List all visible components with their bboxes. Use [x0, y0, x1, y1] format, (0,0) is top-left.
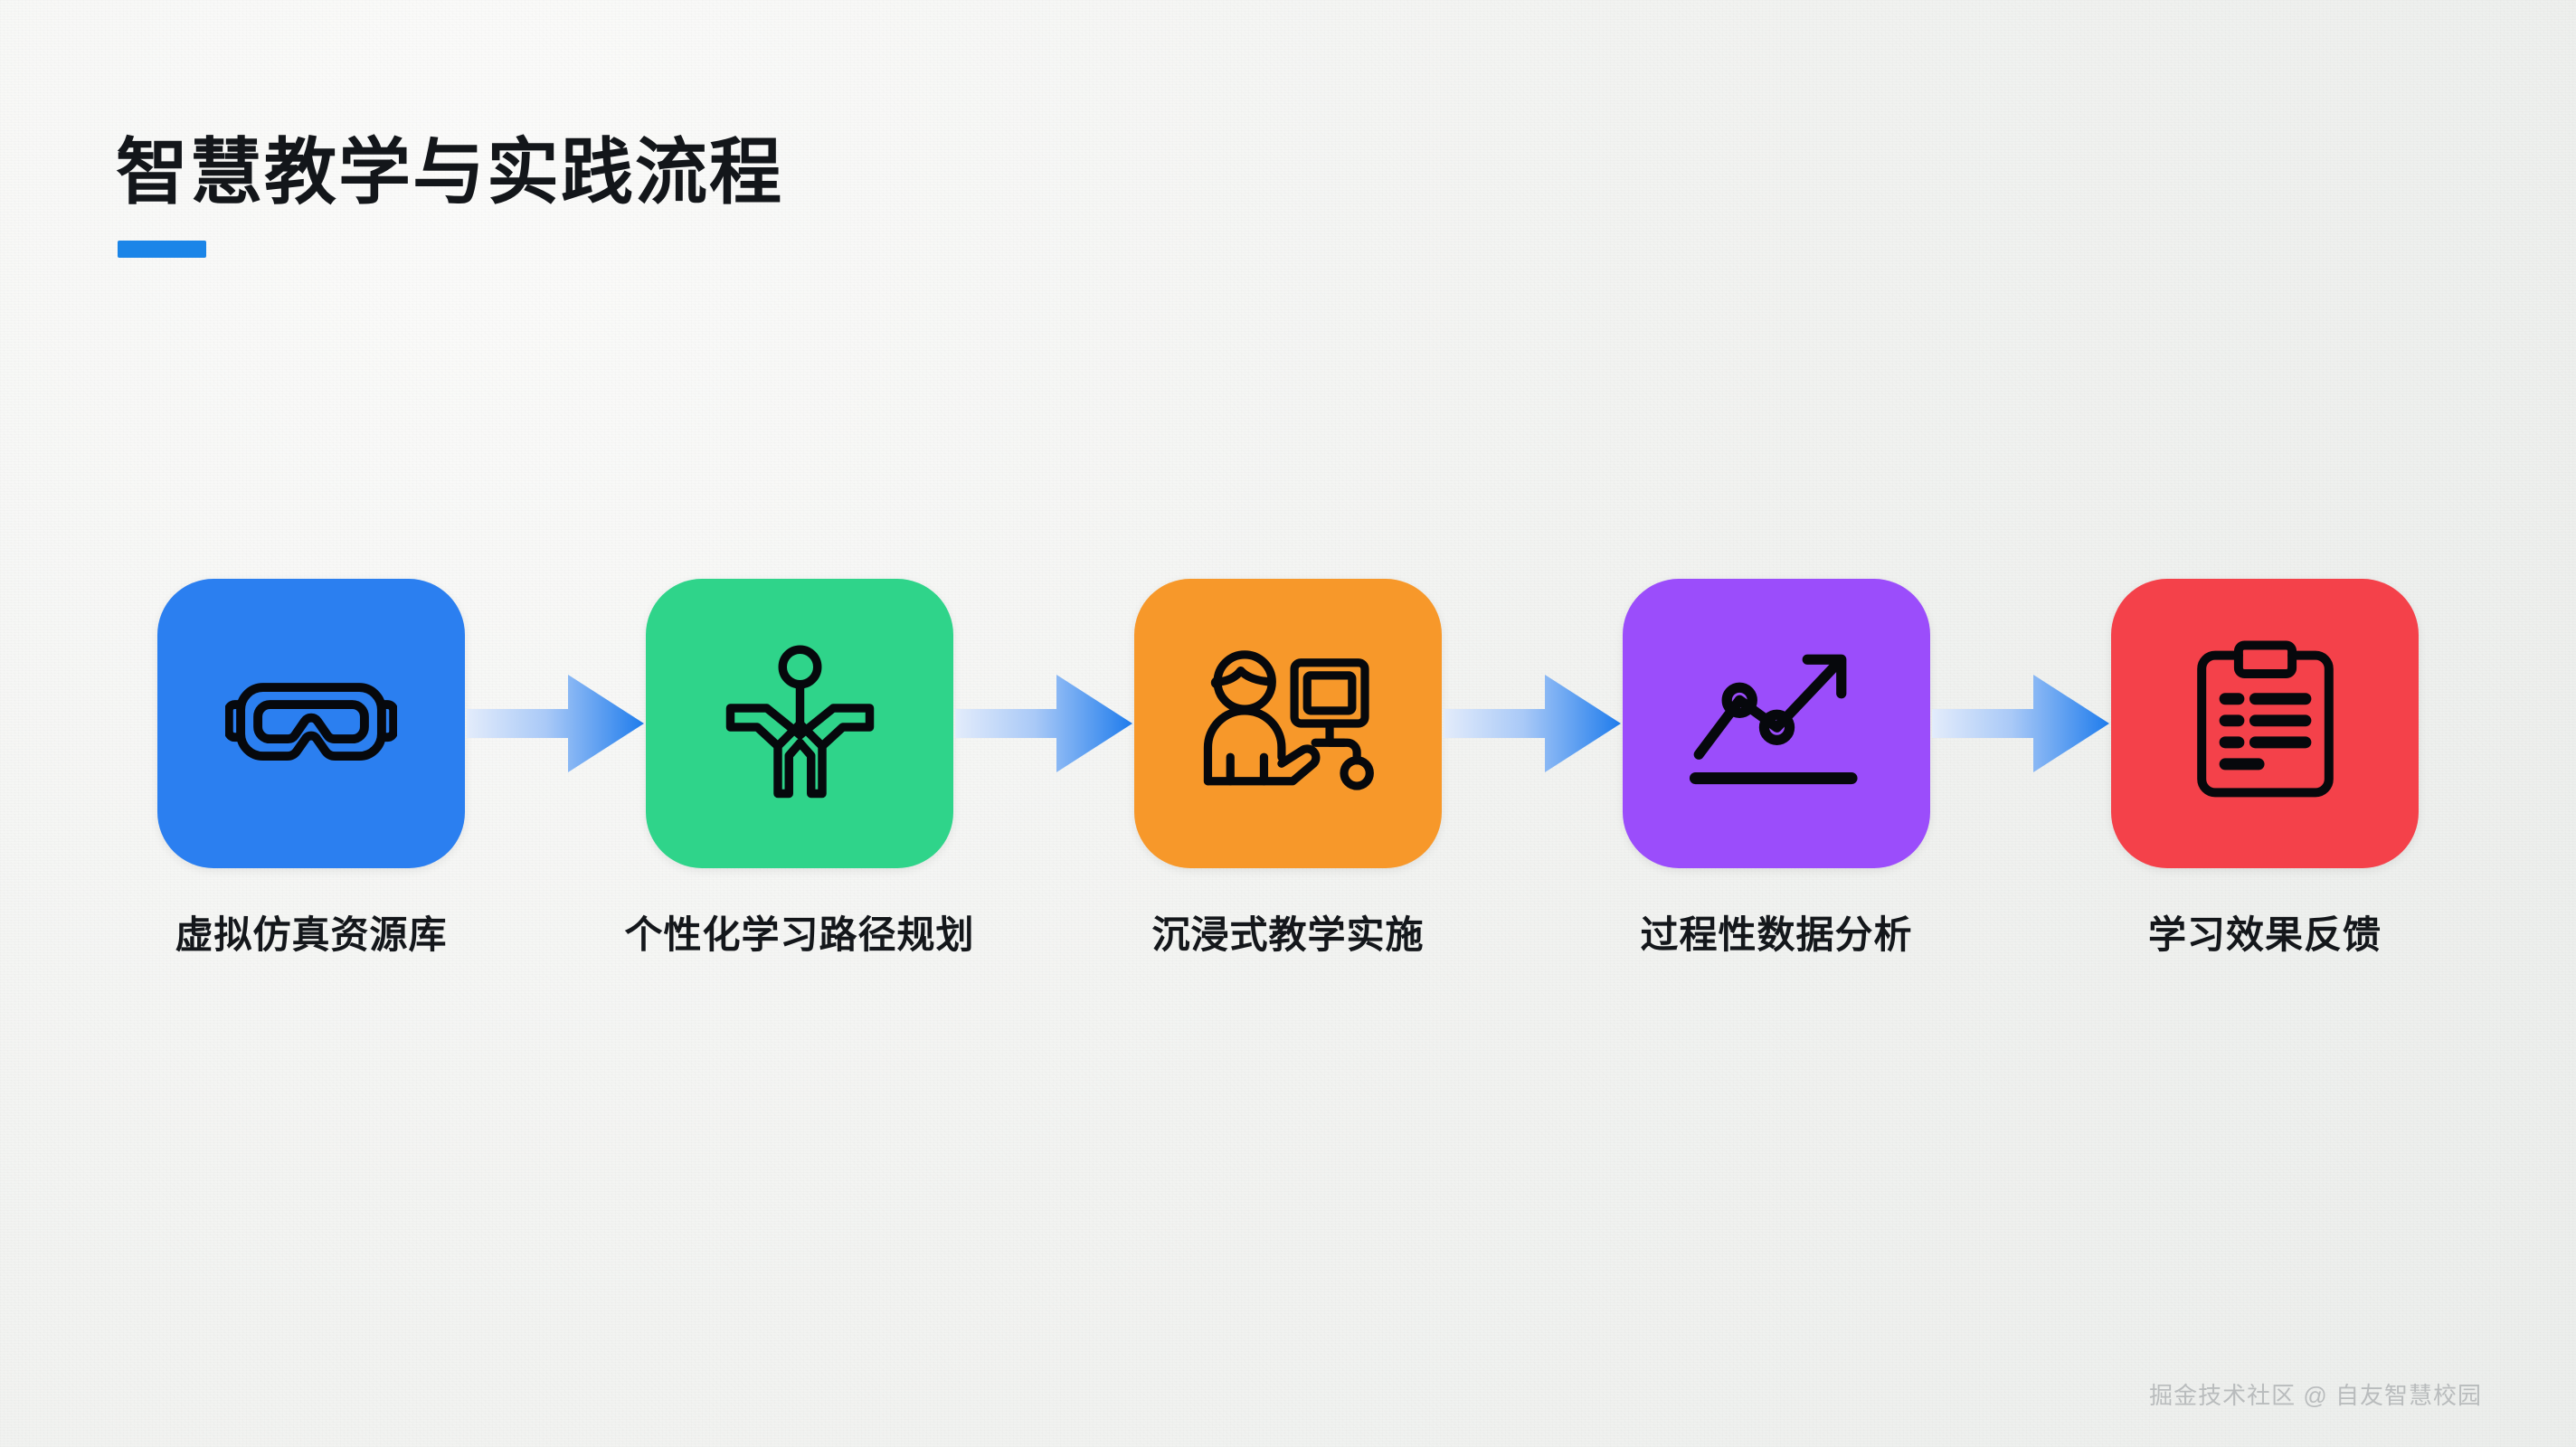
watermark: 掘金技术社区 @ 自友智慧校园: [2149, 1377, 2482, 1411]
flow-step-1-card[interactable]: [157, 579, 465, 868]
flow-arrow-icon: [1932, 673, 2109, 774]
teacher-presenting-icon: [1202, 647, 1374, 800]
flow-step-3-card[interactable]: [1134, 579, 1442, 868]
vr-goggles-icon: [225, 656, 397, 791]
branching-path-icon: [725, 645, 875, 803]
flow-step-5-card[interactable]: [2111, 579, 2419, 868]
flow-arrow-icon: [467, 673, 644, 774]
clipboard-checklist-icon: [2191, 640, 2340, 808]
flow-arrow-1: [465, 579, 646, 868]
flow-step-3[interactable]: 沉浸式教学实施: [1134, 579, 1442, 960]
process-flow: 虚拟仿真资源库: [0, 579, 2576, 995]
slide-canvas: 智慧教学与实践流程 虚拟仿真资源库: [0, 0, 2576, 1447]
page-title: 智慧教学与实践流程: [116, 135, 783, 211]
flow-arrow-icon: [955, 673, 1132, 774]
flow-step-4-label: 过程性数据分析: [1640, 904, 1912, 960]
flow-arrow-3: [1442, 579, 1623, 868]
title-accent-bar: [118, 241, 206, 258]
flow-step-2-label: 个性化学习路径规划: [625, 904, 975, 960]
flow-step-1[interactable]: 虚拟仿真资源库: [157, 579, 465, 960]
flow-arrow-2: [953, 579, 1134, 868]
flow-arrow-icon: [1444, 673, 1621, 774]
flow-step-2-card[interactable]: [646, 579, 953, 868]
flow-step-5[interactable]: 学习效果反馈: [2111, 579, 2419, 960]
trending-up-chart-icon: [1689, 649, 1865, 799]
flow-step-1-label: 虚拟仿真资源库: [175, 904, 447, 960]
flow-arrow-4: [1930, 579, 2111, 868]
flow-step-2[interactable]: 个性化学习路径规划: [646, 579, 953, 960]
flow-step-5-label: 学习效果反馈: [2148, 904, 2382, 960]
flow-step-3-label: 沉浸式教学实施: [1151, 904, 1424, 960]
flow-step-4-card[interactable]: [1623, 579, 1930, 868]
flow-step-4[interactable]: 过程性数据分析: [1623, 579, 1930, 960]
